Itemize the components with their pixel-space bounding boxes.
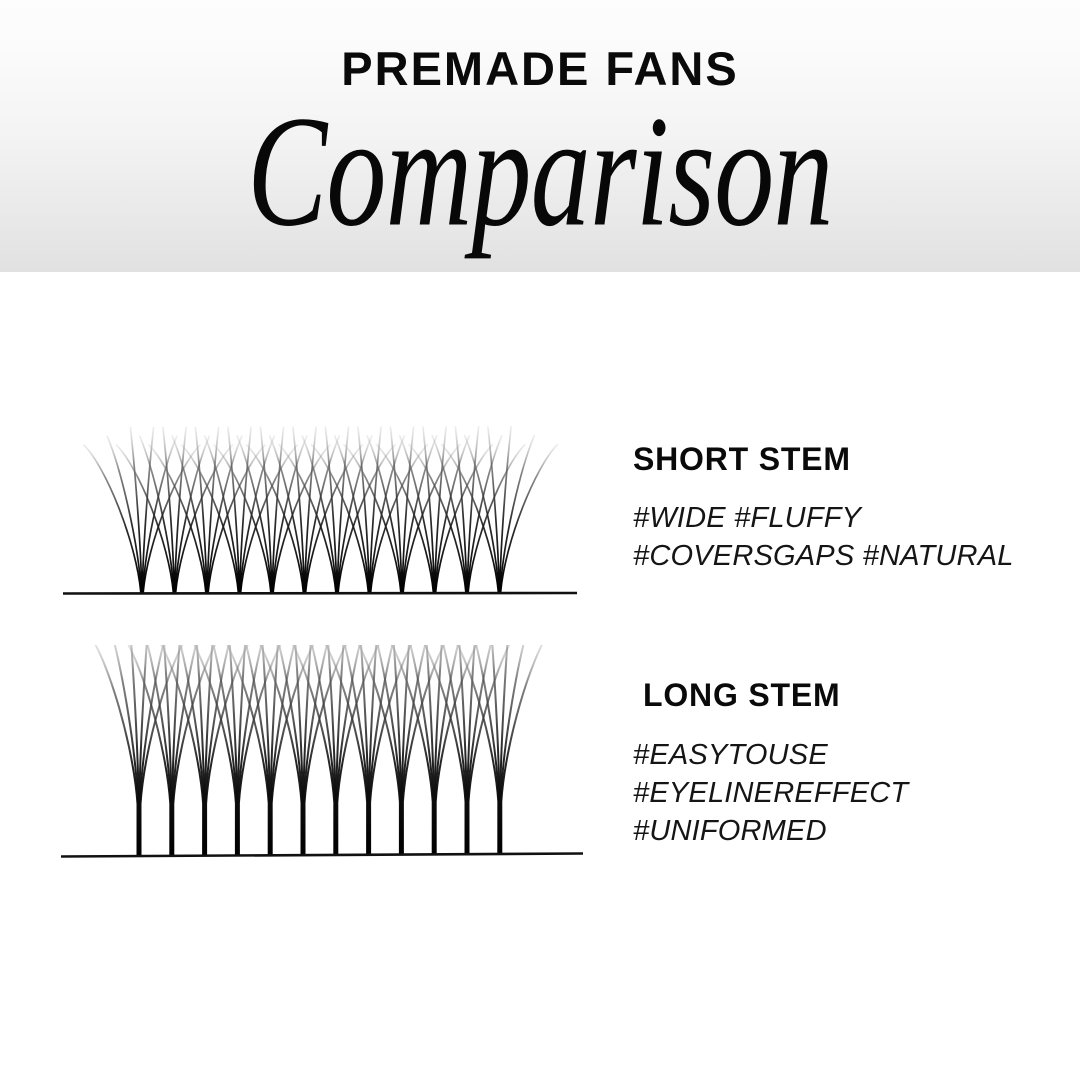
long-stem-illustration [55, 645, 595, 870]
lash-strand [107, 436, 141, 593]
comparison-row-long-stem: LONG STEM #EASYTOUSE #EYELINEREFFECT #UN… [0, 645, 1080, 870]
long-stem-tag-line-3: #UNIFORMED [633, 813, 1063, 851]
short-stem-lash-fan-strip [55, 400, 585, 605]
long-stem-tag-line-1: #EASYTOUSE [633, 737, 1063, 775]
long-stem-lash-fan-strip [55, 645, 595, 870]
comparison-row-short-stem: SHORT STEM #WIDE #FLUFFY #COVERSGAPS #NA… [0, 400, 1080, 615]
long-stem-tag-line-2: #EYELINEREFFECT [633, 775, 1063, 813]
short-stem-caption-block: SHORT STEM #WIDE #FLUFFY #COVERSGAPS #NA… [633, 442, 1063, 576]
lash-strand [500, 436, 534, 593]
long-stem-heading: LONG STEM [633, 678, 1063, 713]
lash-strand [130, 427, 141, 593]
lash-strand [436, 645, 485, 854]
short-stem-tag-line-2: #COVERSGAPS #NATURAL [633, 538, 1063, 576]
page-title-text: Comparison [247, 92, 832, 251]
lash-strand [501, 645, 550, 853]
lash-strand [469, 645, 518, 854]
short-stem-tag-line-1: #WIDE #FLUFFY [633, 500, 1063, 538]
short-stem-illustration [55, 400, 585, 605]
long-stem-tag-list: #EASYTOUSE #EYELINEREFFECT #UNIFORMED [633, 737, 1063, 850]
page-title: Comparison [0, 92, 1080, 242]
poster-canvas: PREMADE FANS Comparison SHORT STE [0, 0, 1080, 1080]
short-stem-tag-list: #WIDE #FLUFFY #COVERSGAPS #NATURAL [633, 500, 1063, 575]
lash-strand [89, 645, 138, 856]
long-stem-caption-block: LONG STEM #EASYTOUSE #EYELINEREFFECT #UN… [633, 678, 1063, 850]
short-stem-heading: SHORT STEM [633, 442, 1063, 477]
lash-strand [500, 427, 511, 593]
lash-strip-baseline [63, 593, 577, 594]
